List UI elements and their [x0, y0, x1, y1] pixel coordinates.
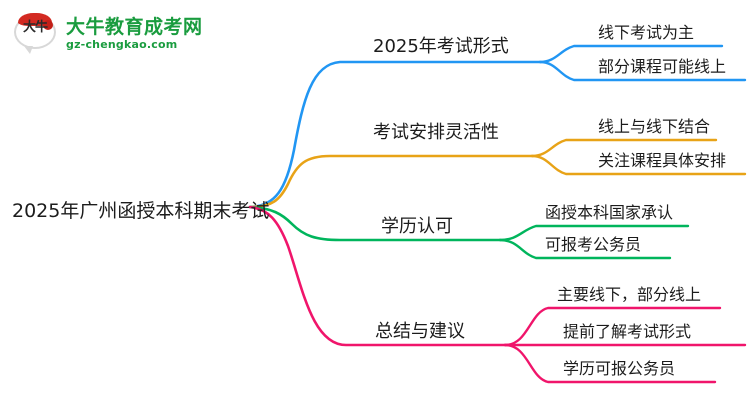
mindmap-leaf-0-0-label[interactable]: 线下考试为主 — [598, 19, 694, 43]
mindmap-leaf-2-0-label[interactable]: 函授本科国家承认 — [545, 199, 673, 223]
mindmap-branch-2-label[interactable]: 学历认可 — [381, 212, 453, 238]
mindmap-branch-1-label[interactable]: 考试安排灵活性 — [373, 118, 499, 144]
mindmap-leaf-1-0-label[interactable]: 线上与线下结合 — [598, 113, 710, 137]
mindmap-leaf-0-1-label[interactable]: 部分课程可能线上 — [598, 53, 726, 77]
mindmap-leaf-2-1-label[interactable]: 可报考公务员 — [545, 231, 641, 255]
mindmap-leaf-3-1-label[interactable]: 提前了解考试形式 — [563, 318, 691, 342]
mindmap-leaf-3-2-label[interactable]: 学历可报公务员 — [563, 355, 675, 379]
mindmap-branch-3-label[interactable]: 总结与建议 — [375, 317, 465, 343]
mindmap-branch-0-label[interactable]: 2025年考试形式 — [373, 32, 509, 58]
mindmap-root-node[interactable]: 2025年广州函授本科期末考试 — [12, 196, 269, 223]
mindmap-leaf-1-1-label[interactable]: 关注课程具体安排 — [598, 147, 726, 171]
mindmap-leaf-3-0-label[interactable]: 主要线下，部分线上 — [557, 281, 701, 305]
